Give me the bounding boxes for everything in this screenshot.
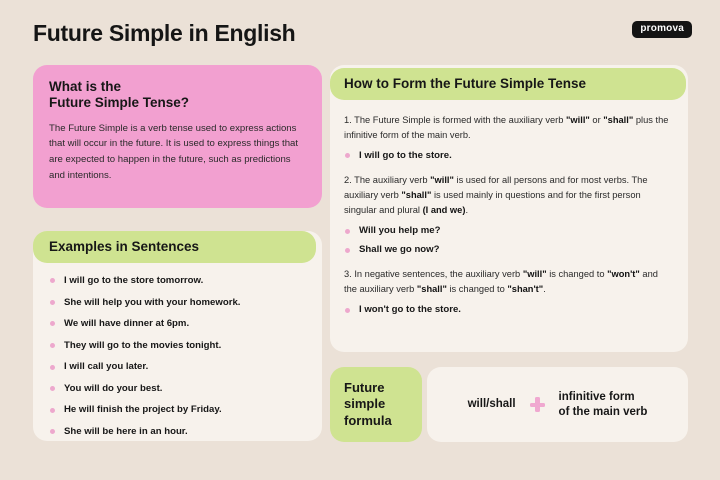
example-sentence: I will call you later. xyxy=(49,361,310,373)
formula-card: will/shall infinitive form of the main v… xyxy=(427,367,688,442)
plus-icon xyxy=(530,397,545,412)
rule-block: 1. The Future Simple is formed with the … xyxy=(344,113,672,162)
example-sentence: She will help you with your homework. xyxy=(49,297,310,309)
example-sentence: You will do your best. xyxy=(49,383,310,395)
example-sentence: They will go to the movies tonight. xyxy=(49,340,310,352)
page-title: Future Simple in English xyxy=(33,20,295,47)
rule-block: 2. The auxiliary verb "will" is used for… xyxy=(344,173,672,256)
rule-text: 3. In negative sentences, the auxiliary … xyxy=(344,267,672,297)
rule-example-list: I will go to the store. xyxy=(344,150,672,162)
rule-example: Will you help me? xyxy=(344,225,672,237)
what-is-future-simple-card: What is the Future Simple Tense? The Fut… xyxy=(33,65,322,208)
what-is-heading: What is the Future Simple Tense? xyxy=(49,79,306,112)
formula-term-right: infinitive form of the main verb xyxy=(559,390,648,420)
promova-logo: promova xyxy=(632,21,692,38)
rule-text: 1. The Future Simple is formed with the … xyxy=(344,113,672,143)
examples-heading: Examples in Sentences xyxy=(49,239,199,255)
what-is-body: The Future Simple is a verb tense used t… xyxy=(49,121,306,183)
example-sentence: We will have dinner at 6pm. xyxy=(49,318,310,330)
infographic-page: Future Simple in English promova What is… xyxy=(0,0,720,480)
how-to-form-header: How to Form the Future Simple Tense xyxy=(330,68,686,100)
how-to-form-rules: 1. The Future Simple is formed with the … xyxy=(330,113,688,323)
rule-block: 3. In negative sentences, the auxiliary … xyxy=(344,267,672,316)
example-sentence: He will finish the project by Friday. xyxy=(49,404,310,416)
rule-example: Shall we go now? xyxy=(344,244,672,256)
example-sentence: She will be here in an hour. xyxy=(49,426,310,438)
rule-example: I won't go to the store. xyxy=(344,304,672,316)
rule-example-list: Will you help me?Shall we go now? xyxy=(344,225,672,256)
examples-header: Examples in Sentences xyxy=(33,231,316,263)
rule-example-list: I won't go to the store. xyxy=(344,304,672,316)
example-sentence: I will go to the store tomorrow. xyxy=(49,275,310,287)
formula-term-left: will/shall xyxy=(468,397,516,412)
how-to-form-heading: How to Form the Future Simple Tense xyxy=(344,76,586,92)
examples-list: I will go to the store tomorrow.She will… xyxy=(33,275,322,448)
rule-text: 2. The auxiliary verb "will" is used for… xyxy=(344,173,672,218)
formula-label: Future simple formula xyxy=(330,367,422,442)
rule-example: I will go to the store. xyxy=(344,150,672,162)
